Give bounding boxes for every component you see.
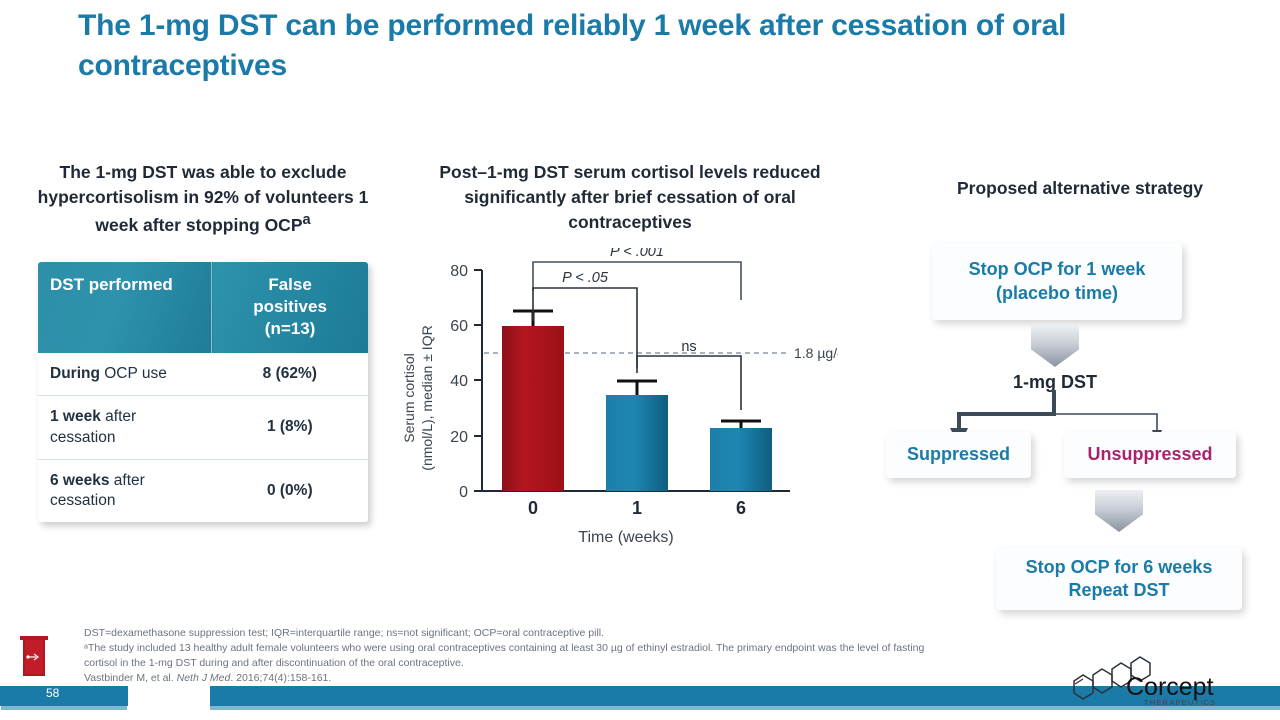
svg-text:20: 20	[450, 429, 468, 446]
svg-text:1: 1	[632, 498, 642, 518]
slide-number: 58	[46, 686, 59, 700]
table-body: During OCP use 8 (62%) 1 week after cess…	[38, 353, 368, 522]
row-value-during-ocp: 8 (62%)	[212, 353, 368, 396]
table-header-false-positives: False positives (n=13)	[212, 262, 368, 353]
table-header-row: DST performed False positives (n=13)	[38, 262, 368, 353]
flow-box-suppressed: Suppressed	[886, 432, 1031, 478]
page-title: The 1-mg DST can be performed reliably 1…	[78, 6, 1188, 86]
flow-box-stop-ocp-6-weeks-text: Stop OCP for 6 weeks Repeat DST	[1026, 556, 1213, 603]
flow-box-unsuppressed: Unsuppressed	[1064, 432, 1236, 478]
table-row: 1 week after cessation 1 (8%)	[38, 396, 368, 459]
citation-journal: Neth J Med	[177, 672, 231, 684]
svg-text:60: 60	[450, 318, 468, 335]
chart-svg: Serum cortisol (nmol/L), median ± IQR 0 …	[398, 248, 838, 558]
svg-text:40: 40	[450, 373, 468, 390]
citation-authors: Vastbinder M, et al.	[84, 672, 177, 684]
footnote-abbreviations: DST=dexamethasone suppression test; IQR=…	[84, 626, 1094, 641]
header-positives: positives	[224, 296, 356, 318]
reference-line-label: 1.8 µg/dL (50 nmol/L)	[794, 345, 838, 361]
stop1-line2: (placebo time)	[969, 282, 1146, 305]
bar-week-1	[606, 395, 668, 491]
door-icon	[14, 632, 54, 680]
left-heading-text: The 1-mg DST was able to exclude hyperco…	[38, 162, 369, 235]
row-label-6-weeks: 6 weeks after cessation	[38, 459, 212, 522]
row-value-6-weeks: 0 (0%)	[212, 459, 368, 522]
stop6-line1: Stop OCP for 6 weeks	[1026, 556, 1213, 579]
row-label-1-week: 1 week after cessation	[38, 396, 212, 459]
flow-box-stop-ocp-6-weeks: Stop OCP for 6 weeks Repeat DST	[996, 548, 1242, 610]
footnotes: DST=dexamethasone suppression test; IQR=…	[84, 626, 1094, 686]
svg-text:0: 0	[528, 498, 538, 518]
header-n-count: (n=13)	[224, 318, 356, 340]
chart-y-axis-label: Serum cortisol	[401, 353, 417, 442]
branch-left-line	[959, 390, 1054, 434]
false-positives-table: DST performed False positives (n=13) Dur…	[38, 262, 368, 522]
annotation-p-lt-05: P < .05	[562, 270, 609, 286]
bar-week-6	[710, 428, 772, 491]
row-label-rest: OCP use	[100, 365, 167, 382]
annotation-p-lt-001: P < .001	[610, 248, 664, 260]
bar-week-0	[502, 326, 564, 491]
footnote-study-details-line2: cortisol in the 1-mg DST during and afte…	[84, 656, 1094, 671]
row-label-bold: 1 week	[50, 408, 101, 425]
branch-right-line	[1054, 390, 1157, 434]
flow-box-stop-ocp-1-week: Stop OCP for 1 week (placebo time)	[932, 243, 1182, 320]
corcept-logo: Corcept THERAPEUTICS	[1066, 655, 1266, 713]
flow-box-stop-ocp-1-week-text: Stop OCP for 1 week (placebo time)	[969, 258, 1146, 305]
row-label-bold: During	[50, 365, 100, 382]
chart-x-axis-label: Time (weeks)	[578, 529, 673, 546]
serum-cortisol-bar-chart: Serum cortisol (nmol/L), median ± IQR 0 …	[398, 248, 838, 558]
logo-wordmark: Corcept	[1126, 673, 1214, 701]
slide-canvas: The 1-mg DST can be performed reliably 1…	[0, 0, 1280, 720]
header-false: False	[224, 274, 356, 296]
table-row: During OCP use 8 (62%)	[38, 353, 368, 396]
left-column-heading: The 1-mg DST was able to exclude hyperco…	[18, 160, 388, 237]
table-row: 6 weeks after cessation 0 (0%)	[38, 459, 368, 522]
citation-details: . 2016;74(4):158-161.	[230, 672, 331, 684]
row-label-during-ocp: During OCP use	[38, 353, 212, 396]
left-heading-superscript: a	[303, 212, 311, 228]
table-header-dst-performed: DST performed	[38, 262, 212, 353]
down-arrow-icon	[1031, 325, 1079, 367]
svg-text:0: 0	[459, 484, 468, 501]
row-label-bold: 6 weeks	[50, 472, 109, 489]
stop1-line1: Stop OCP for 1 week	[969, 258, 1146, 281]
row-value-1-week: 1 (8%)	[212, 396, 368, 459]
chart-y-ticks	[474, 270, 482, 491]
right-column-heading: Proposed alternative strategy	[880, 176, 1280, 201]
down-arrow-icon-2	[1095, 490, 1143, 532]
logo-tagline: THERAPEUTICS	[1144, 698, 1216, 707]
svg-text:6: 6	[736, 498, 746, 518]
chart-x-tick-labels: 0 1 6	[528, 498, 746, 518]
table-head: DST performed False positives (n=13)	[38, 262, 368, 353]
chart-y-tick-labels: 0 20 40 60 80	[450, 263, 468, 501]
false-positives-table-container: DST performed False positives (n=13) Dur…	[38, 262, 368, 522]
middle-column-heading: Post–1-mg DST serum cortisol levels redu…	[420, 160, 840, 235]
stop6-line2: Repeat DST	[1026, 579, 1213, 602]
svg-text:80: 80	[450, 263, 468, 280]
annotation-ns: ns	[681, 339, 696, 355]
chart-y-axis-label-units: (nmol/L), median ± IQR	[419, 325, 435, 470]
footnote-study-details-line1: ᵃThe study included 13 healthy adult fem…	[84, 641, 1094, 656]
